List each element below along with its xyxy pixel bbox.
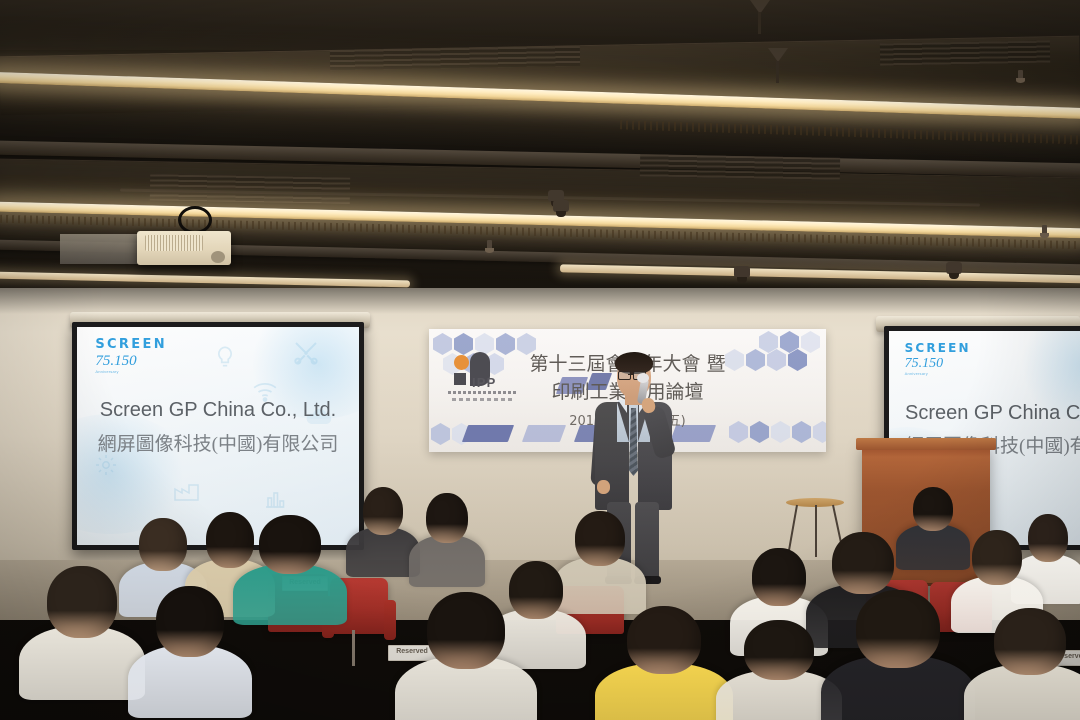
brand-name-text-right: SCREEN <box>905 342 971 354</box>
seat-armrest <box>384 600 396 640</box>
brand-anniversary-text-right: 75.150 <box>905 357 971 371</box>
audience-member <box>731 620 827 720</box>
industrial-ceiling <box>0 0 1080 292</box>
audience-member-head <box>913 487 953 531</box>
audience-member-head <box>426 493 468 543</box>
seat-leg <box>352 630 355 666</box>
ceiling-spotlight-4 <box>946 262 962 274</box>
ceiling-fan-mount-1 <box>750 0 770 36</box>
audience-member <box>34 566 130 686</box>
lectern-top-surface <box>856 438 996 450</box>
ceiling-vent-b <box>880 41 1050 66</box>
right-slide-title: Screen GP China Co., Ltd. <box>889 402 1080 426</box>
factory-icon <box>173 480 201 502</box>
audience-member <box>247 515 333 613</box>
audience-member <box>612 606 716 720</box>
left-slide-subtitle: 網屏圖像科技(中國)有限公司 <box>77 434 359 456</box>
lamp-icon <box>212 344 238 370</box>
stool-leg <box>787 505 798 555</box>
audience-member <box>412 592 520 720</box>
audience-member <box>565 511 635 603</box>
audience-member <box>840 590 956 720</box>
ceiling-projector <box>137 231 231 265</box>
audience-member-head <box>139 518 187 571</box>
audience-member-head <box>427 592 505 669</box>
left-slide-title: Screen GP China Co., Ltd. <box>77 399 359 423</box>
projector-mount <box>60 234 138 264</box>
ceiling-fan-mount-2 <box>768 48 788 88</box>
wall-top-shadow <box>0 288 1080 314</box>
sprinkler-head-2 <box>1042 225 1047 234</box>
audience-member-head <box>856 590 940 668</box>
projector-lens <box>211 251 225 263</box>
audience-member <box>980 608 1080 720</box>
tools-icon <box>291 338 321 368</box>
presenter-left-hand <box>597 480 610 494</box>
brand-anniversary-sub-right: Anniversary <box>905 371 971 376</box>
eyeglasses-left-lens <box>618 371 631 380</box>
ceiling-vent-d <box>640 154 840 179</box>
ceiling-spotlight-2 <box>553 200 569 212</box>
brand-name-text: SCREEN <box>95 338 167 351</box>
audience-member <box>418 493 476 577</box>
audience-member-head <box>575 511 625 566</box>
brand-anniversary-text: 75.150 <box>95 354 167 369</box>
audience-member <box>143 586 237 704</box>
audience-member-head <box>1028 514 1068 562</box>
audience-member <box>905 487 961 561</box>
projector-cable <box>178 206 212 234</box>
screen-brand-logo: SCREEN 75.150 Anniversary <box>95 338 167 374</box>
audience-member-head <box>363 487 403 535</box>
screen-brand-logo-right: SCREEN 75.150 Anniversary <box>905 342 971 376</box>
sprinkler-head-1 <box>1018 70 1023 79</box>
projector-vent-grill <box>145 235 203 251</box>
audience-member-head <box>832 532 894 594</box>
brand-anniversary-sub: Anniversary <box>95 369 167 374</box>
audience-member-head <box>972 530 1022 585</box>
ceiling-spotlight-3 <box>734 266 750 278</box>
ceiling-light-1-grid <box>620 120 1080 145</box>
audience-member-head <box>47 566 116 638</box>
gear-icon <box>94 453 118 477</box>
chart-icon <box>263 488 287 510</box>
conference-photo: SCREEN 75.150 Anniversary <box>0 0 1080 720</box>
audience-member-head <box>156 586 224 657</box>
microphone-head <box>637 373 649 383</box>
sprinkler-head-3 <box>487 240 492 249</box>
eyeglasses-bridge <box>628 374 633 375</box>
audience-member-head <box>627 606 702 674</box>
ceiling-light-4 <box>0 272 410 288</box>
audience-member-head <box>994 608 1066 675</box>
audience-member-head <box>744 620 813 680</box>
audience-member-head <box>752 548 805 606</box>
audience-member <box>355 487 411 567</box>
audience-member-head <box>259 515 321 574</box>
